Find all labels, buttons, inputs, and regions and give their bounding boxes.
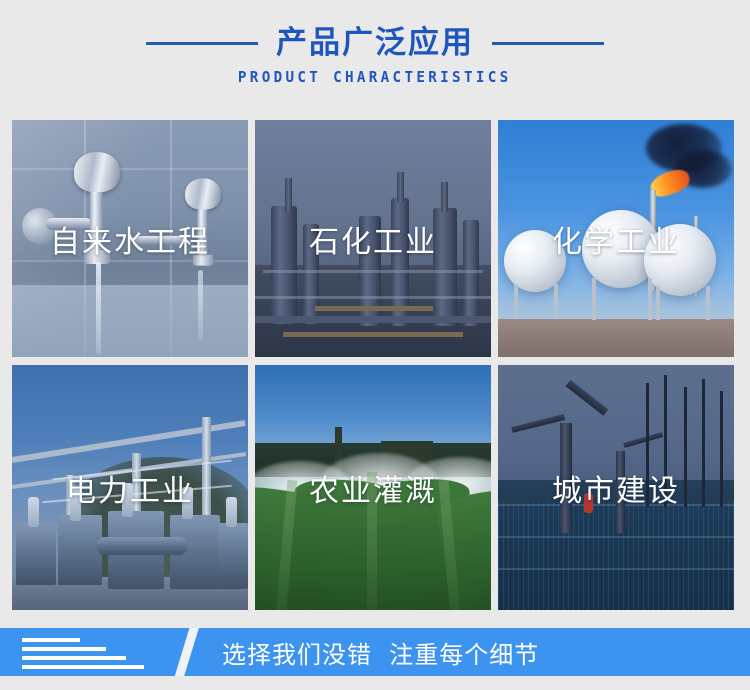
tile-caption: 农业灌溉 [255, 466, 491, 510]
title-rule-right [492, 42, 604, 45]
stair-line-2 [22, 647, 106, 651]
tile-urban-construction[interactable]: 城市建设 [498, 365, 734, 610]
footer-banner: 选择我们没错 注重每个细节 [0, 628, 750, 676]
page-header: 产品广泛应用 PRODUCT CHARACTERISTICS [0, 0, 750, 118]
application-grid: 自来水工程 石化工业 [12, 120, 738, 610]
tile-caption: 石化工业 [255, 217, 491, 261]
stair-line-4 [22, 665, 144, 669]
tile-caption: 电力工业 [12, 466, 248, 510]
stair-line-1 [22, 638, 80, 642]
diagonal-divider-icon [173, 628, 201, 676]
tile-caption: 城市建设 [498, 466, 734, 510]
tile-petrochemical-industry[interactable]: 石化工业 [255, 120, 491, 357]
tile-power-industry[interactable]: 电力工业 [12, 365, 248, 610]
title-rule-left [146, 42, 258, 45]
tile-agricultural-irrigation[interactable]: 农业灌溉 [255, 365, 491, 610]
title-row: 产品广泛应用 [146, 28, 604, 59]
tile-water-engineering[interactable]: 自来水工程 [12, 120, 248, 357]
page-subtitle: PRODUCT CHARACTERISTICS [238, 68, 512, 86]
page-title: 产品广泛应用 [276, 28, 474, 59]
tile-chemical-industry[interactable]: 化学工业 [498, 120, 734, 357]
tile-caption: 自来水工程 [12, 217, 248, 261]
stair-line-3 [22, 656, 126, 660]
footer-slogan: 选择我们没错 注重每个细节 [222, 628, 539, 676]
tile-caption: 化学工业 [498, 217, 734, 261]
